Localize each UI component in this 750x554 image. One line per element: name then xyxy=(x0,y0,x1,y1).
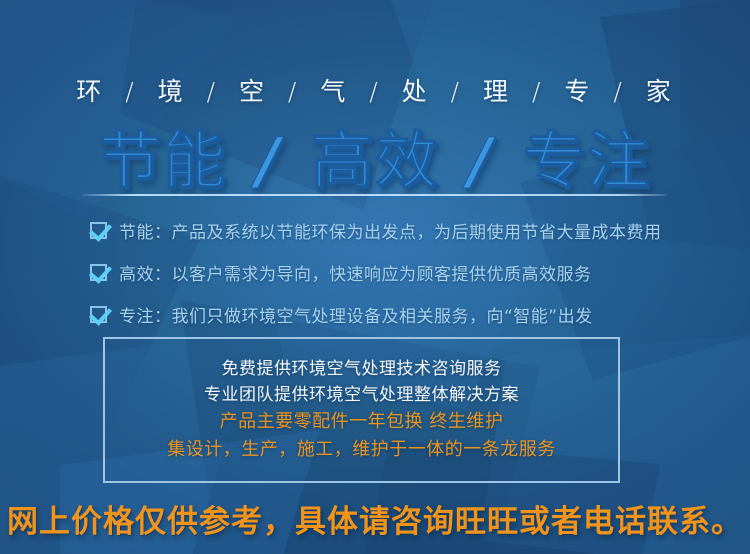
eyebrow-char-8: 家 xyxy=(641,77,679,106)
bullet-label: 节能：产品及系统以节能环保为出发点，为后期使用节省大量成本费用 xyxy=(119,218,662,243)
headline-separator-2: / xyxy=(463,124,500,197)
eyebrow-char-5: 处 xyxy=(397,77,435,106)
eyebrow-separator-5: / xyxy=(446,77,467,106)
headline-part-3: 专注 xyxy=(523,124,651,197)
headline-divider xyxy=(83,194,667,196)
bullet-label: 专注：我们只做环境空气处理设备及相关服务，向“智能”出发 xyxy=(119,302,593,327)
eyebrow-char-4: 气 xyxy=(315,77,353,106)
headline-part-2: 高效 xyxy=(311,124,439,197)
eyebrow-separator-7: / xyxy=(608,77,629,106)
banner-content: 环 / 境 / 空 / 气 / 处 / 理 / 专 / 家 节能 / 高效 / … xyxy=(0,0,750,554)
headline-part-1: 节能 xyxy=(99,124,227,197)
services-line-4: 集设计，生产，施工，维护于一体的一条龙服务 xyxy=(167,436,556,464)
eyebrow-tagline: 环 / 境 / 空 / 气 / 处 / 理 / 专 / 家 xyxy=(0,72,750,108)
services-line-1: 免费提供环境空气处理技术咨询服务 xyxy=(222,356,502,382)
eyebrow-char-3: 空 xyxy=(234,77,272,106)
feature-bullet-list: 节能：产品及系统以节能环保为出发点，为后期使用节省大量成本费用 高效：以客户需求… xyxy=(90,210,690,336)
eyebrow-separator-6: / xyxy=(527,77,548,106)
services-line-3: 产品主要零配件一年包换 终生维护 xyxy=(220,408,504,436)
eyebrow-separator-3: / xyxy=(283,77,304,106)
check-box-icon xyxy=(90,306,107,323)
check-box-icon xyxy=(90,264,107,281)
main-headline: 节能 / 高效 / 专注 xyxy=(0,110,750,200)
services-box: 免费提供环境空气处理技术咨询服务 专业团队提供环境空气处理整体解决方案 产品主要… xyxy=(103,337,620,483)
eyebrow-separator-1: / xyxy=(120,77,141,106)
list-item: 高效：以客户需求为导向，快速响应为顾客提供优质高效服务 xyxy=(90,252,690,292)
list-item: 专注：我们只做环境空气处理设备及相关服务，向“智能”出发 xyxy=(90,294,690,334)
eyebrow-char-2: 境 xyxy=(153,77,191,106)
eyebrow-char-7: 专 xyxy=(559,77,597,106)
promo-banner: 环 / 境 / 空 / 气 / 处 / 理 / 专 / 家 节能 / 高效 / … xyxy=(0,0,750,554)
headline-separator-1: / xyxy=(251,124,288,197)
footer-disclaimer: 网上价格仅供参考，具体请咨询旺旺或者电话联系。 xyxy=(0,496,750,541)
services-line-2: 专业团队提供环境空气处理整体解决方案 xyxy=(204,382,519,408)
eyebrow-separator-2: / xyxy=(202,77,223,106)
list-item: 节能：产品及系统以节能环保为出发点，为后期使用节省大量成本费用 xyxy=(90,210,690,250)
eyebrow-char-6: 理 xyxy=(478,77,516,106)
bullet-label: 高效：以客户需求为导向，快速响应为顾客提供优质高效服务 xyxy=(119,260,592,285)
eyebrow-separator-4: / xyxy=(364,77,385,106)
check-box-icon xyxy=(90,222,107,239)
eyebrow-char-1: 环 xyxy=(71,77,109,106)
